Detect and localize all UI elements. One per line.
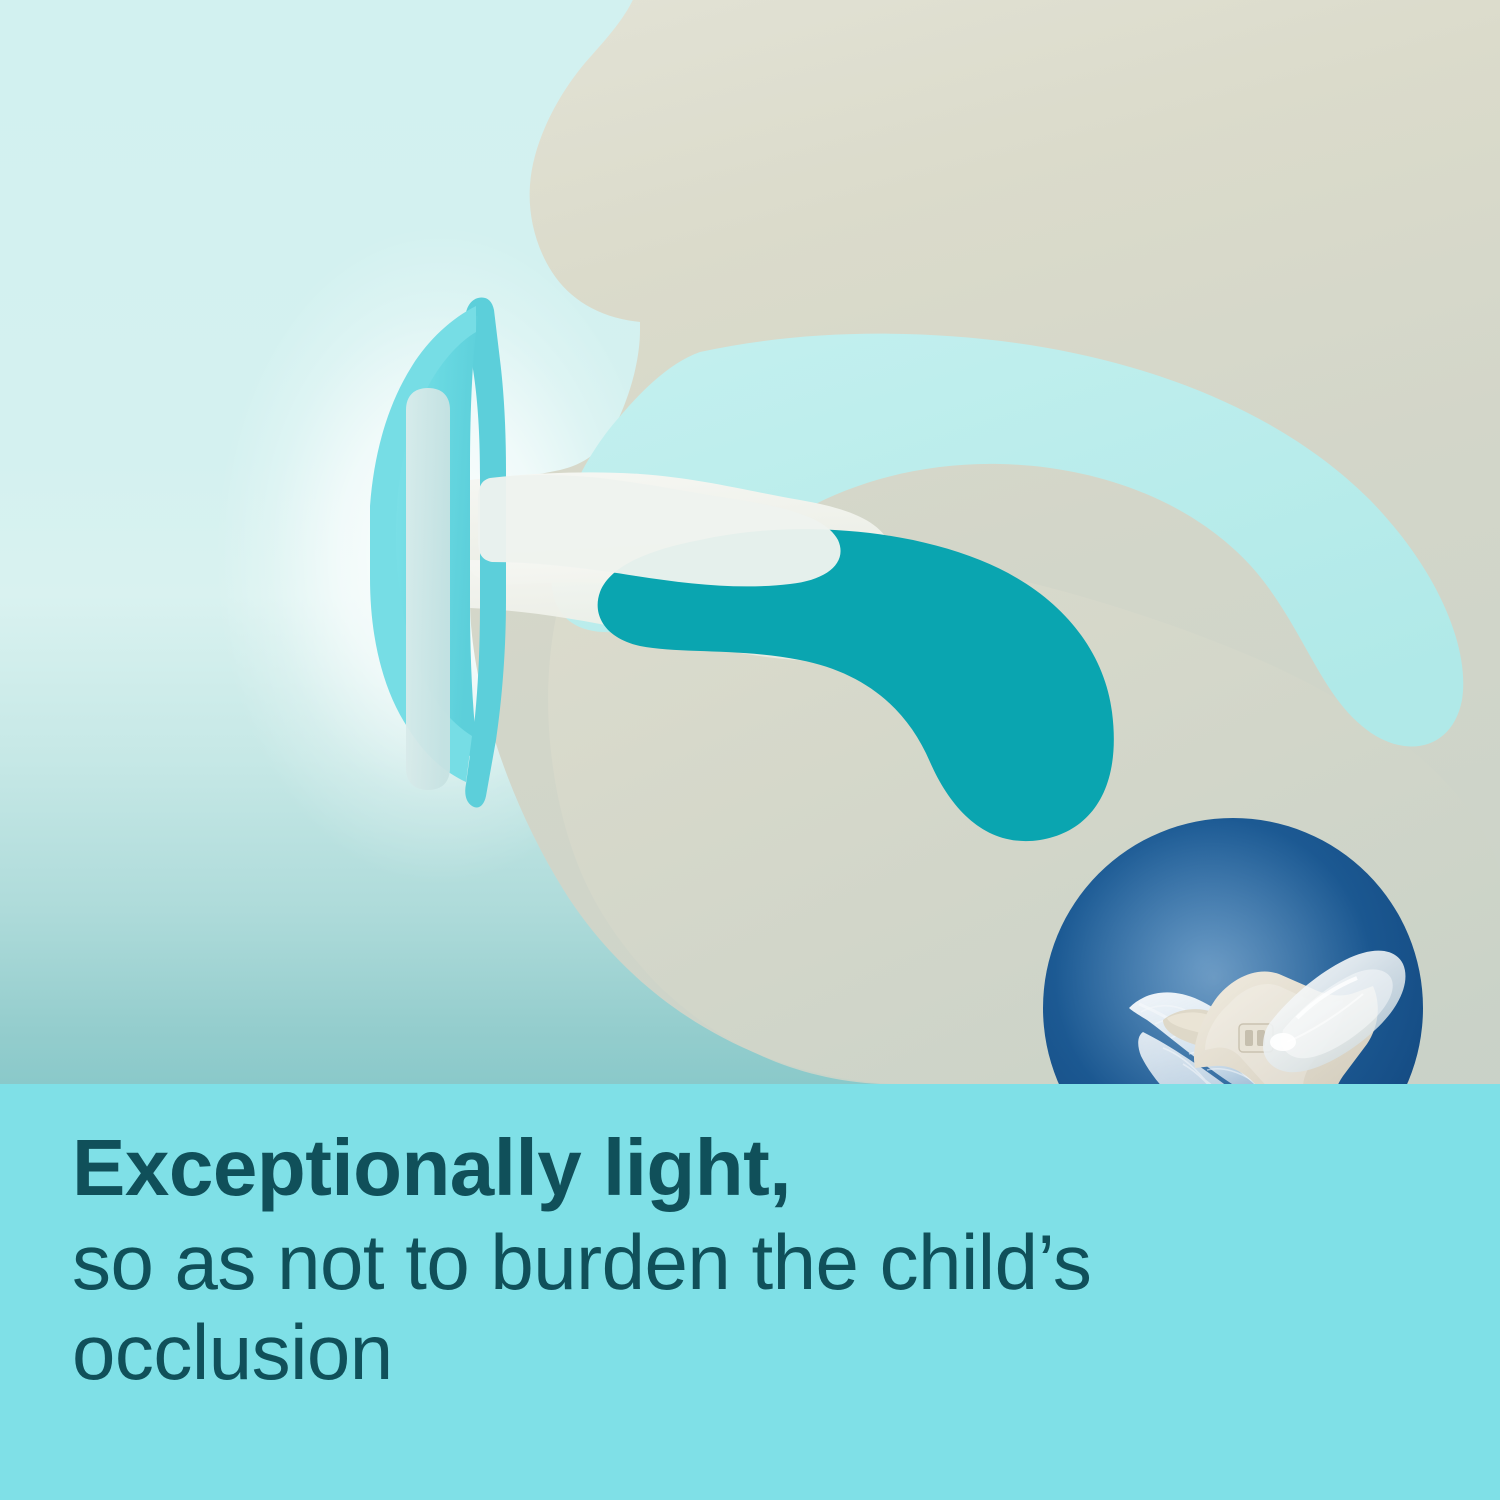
teat-highlight	[1270, 1033, 1296, 1051]
caption-line-3: occlusion	[72, 1307, 1440, 1397]
caption-text-block: Exceptionally light, so as not to burden…	[72, 1126, 1440, 1398]
caption-line-2: so as not to burden the child’s	[72, 1217, 1440, 1307]
pacifier-nipple-stem	[406, 388, 450, 790]
caption-line-1: Exceptionally light,	[72, 1126, 1440, 1211]
poster-root: Exceptionally light, so as not to burden…	[0, 0, 1500, 1500]
caption-banner: Exceptionally light, so as not to burden…	[0, 1084, 1500, 1500]
